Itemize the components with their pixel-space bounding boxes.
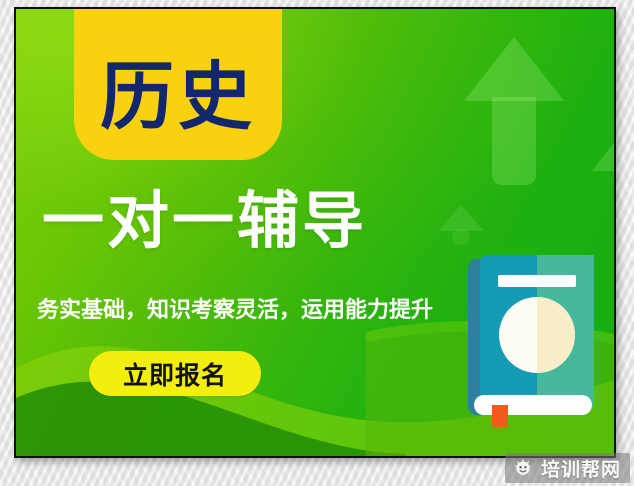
arrow-shaft <box>615 167 616 241</box>
arrow-head <box>592 117 616 171</box>
enroll-now-button[interactable]: 立即报名 <box>89 351 261 396</box>
subject-badge: 历史 <box>74 7 282 160</box>
arrow-head <box>464 37 564 101</box>
subtitle: 务实基础，知识考察灵活，运用能力提升 <box>37 297 433 325</box>
subject-badge-label: 历史 <box>100 60 256 152</box>
promo-banner: 历史 一对一辅导 务实基础，知识考察灵活，运用能力提升 立即报名 <box>14 7 616 458</box>
up-arrow-icon <box>464 37 564 185</box>
page-backdrop: 历史 一对一辅导 务实基础，知识考察灵活，运用能力提升 立即报名 <box>0 0 634 486</box>
headline: 一对一辅导 <box>42 190 367 252</box>
book-icon <box>468 255 594 427</box>
up-arrow-icon <box>592 117 616 237</box>
enroll-now-button-label: 立即报名 <box>123 356 227 392</box>
arrow-shaft <box>452 229 470 245</box>
watermark-text: 培训帮网 <box>541 455 621 482</box>
smiley-face-icon <box>512 456 534 481</box>
watermark: 培训帮网 <box>505 453 630 483</box>
arrow-shaft <box>492 97 536 185</box>
up-arrow-icon <box>438 205 484 245</box>
arrow-head <box>438 205 484 231</box>
